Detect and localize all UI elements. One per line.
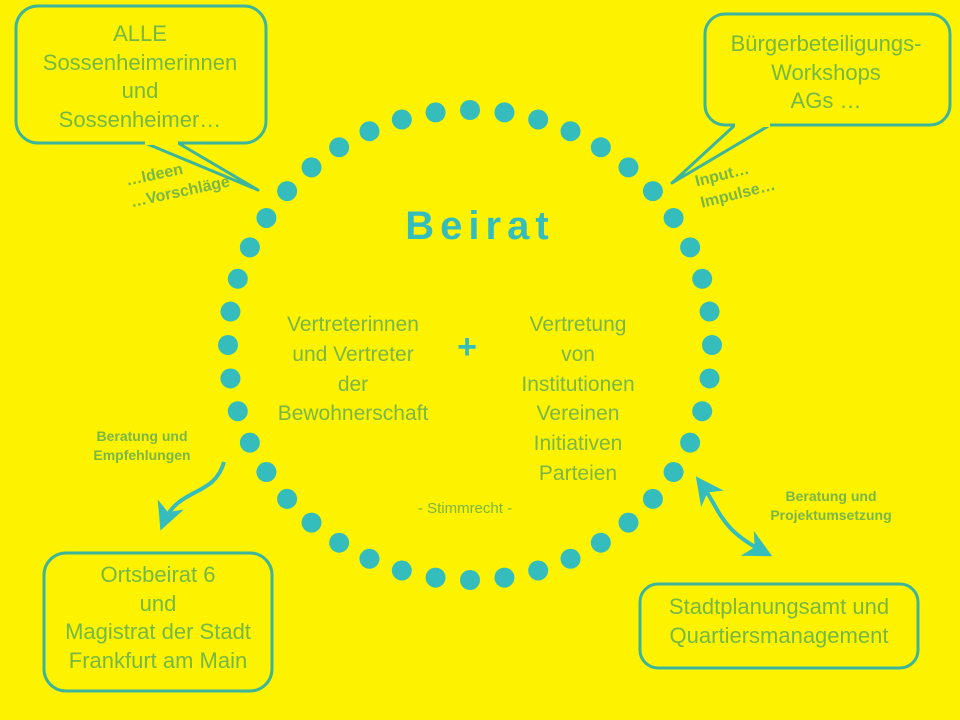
- ring-dot: [680, 433, 700, 453]
- ring-dot: [561, 549, 581, 569]
- ring-dot: [277, 489, 297, 509]
- annotation-beratung-empfehlungen: Beratung und Empfehlungen: [72, 427, 212, 466]
- ring-dot: [494, 102, 514, 122]
- box-bottom-left-label: Ortsbeirat 6 und Magistrat der Stadt Fra…: [50, 561, 266, 675]
- box-bottom-left-frame: [44, 553, 272, 691]
- ring-dot: [218, 335, 238, 355]
- ring-dot: [228, 269, 248, 289]
- ring-dot: [591, 533, 611, 553]
- ring-dot: [359, 121, 379, 141]
- ring-dot: [329, 533, 349, 553]
- ring-dot: [256, 462, 276, 482]
- ring-dot: [692, 401, 712, 421]
- ring-dot: [426, 568, 446, 588]
- center-left-column: Vertreterinnen und Vertreter der Bewohne…: [258, 310, 448, 429]
- ring-dot: [359, 549, 379, 569]
- ring-dot: [460, 570, 480, 590]
- callout-top-left-body: [16, 6, 266, 143]
- callout-top-left-frame: [16, 6, 266, 190]
- diagram-canvas: Beirat Vertreterinnen und Vertreter der …: [0, 0, 960, 720]
- ring-dot: [591, 137, 611, 157]
- ring-dot: [220, 302, 240, 322]
- ring-dot: [528, 560, 548, 580]
- box-bottom-right-label: Stadtplanungsamt und Quartiersmanagement: [640, 593, 918, 650]
- ring-dot: [643, 181, 663, 201]
- ring-dot: [228, 401, 248, 421]
- callout-top-right-frame: [672, 14, 950, 183]
- ring-dot: [528, 110, 548, 130]
- ring-dot: [277, 181, 297, 201]
- ring-dot: [700, 302, 720, 322]
- ring-dot: [460, 100, 480, 120]
- ring-dot: [426, 102, 446, 122]
- annotation-beratung-projektumsetzung: Beratung und Projektumsetzung: [746, 487, 916, 526]
- ring-dot: [302, 157, 322, 177]
- callout-top-left-label: ALLE Sossenheimerinnen und Sossenheimer…: [24, 20, 256, 134]
- ring-dot: [392, 110, 412, 130]
- ring-dot: [618, 157, 638, 177]
- ring-dot: [240, 433, 260, 453]
- ring-dot: [664, 462, 684, 482]
- stimmrecht-footnote: - Stimmrecht -: [330, 500, 600, 517]
- ring-dot: [702, 335, 722, 355]
- box-bottom-right-frame: [640, 584, 918, 668]
- ring-dot: [561, 121, 581, 141]
- ring-dot: [302, 513, 322, 533]
- arrow-beratung-empfehlungen: [163, 462, 224, 524]
- ring-dot: [700, 368, 720, 388]
- center-right-column: Vertretung von Institutionen Vereinen In…: [493, 310, 663, 489]
- callout-top-right-body: [705, 14, 950, 125]
- ring-dot: [329, 137, 349, 157]
- ring-dot: [618, 513, 638, 533]
- ring-dot: [494, 568, 514, 588]
- ring-dot: [220, 368, 240, 388]
- plus-icon: +: [447, 330, 487, 364]
- ring-dot: [643, 489, 663, 509]
- callout-top-right-label: Bürgerbeteiligungs- Workshops AGs …: [708, 30, 944, 116]
- ring-dot: [392, 560, 412, 580]
- ring-dot: [692, 269, 712, 289]
